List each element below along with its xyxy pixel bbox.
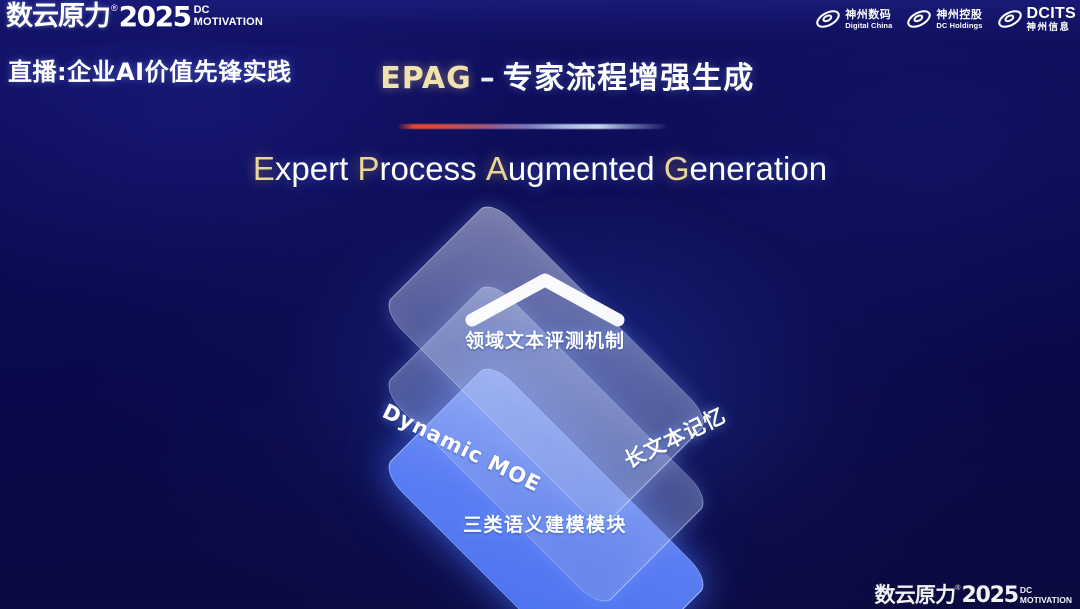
partner-label: DCITS 神州信息 xyxy=(1027,6,1077,33)
title-dash: – xyxy=(480,61,495,96)
layered-architecture-diagram: 领域文本评测机制 Dynamic MOE 长文本记忆 三类语义建模模块 xyxy=(300,222,790,562)
partner-label: 神州控股 DC Holdings xyxy=(936,9,982,30)
partner-name-en: Digital China xyxy=(845,22,892,30)
watermark-year: 2025 xyxy=(961,584,1017,607)
brand-registered-mark: ® xyxy=(111,2,118,14)
partner-logo-group: 神州数码 Digital China 神州控股 DC Holdings DCIT… xyxy=(815,5,1076,33)
partner-label: 神州数码 Digital China xyxy=(845,9,892,30)
corner-watermark-logo: 数云原力 ® 2025 DC MOTIVATION xyxy=(874,584,1072,607)
watermark-dc-line1: DC xyxy=(1020,586,1072,595)
watermark-name-cn: 数云原力 xyxy=(874,584,955,607)
swoosh-icon xyxy=(815,7,841,31)
title-chinese: 专家流程增强生成 xyxy=(503,61,755,96)
partner-name-cn: 神州信息 xyxy=(1027,23,1077,33)
subtitle-cap-g: G xyxy=(664,150,690,187)
gradient-divider xyxy=(397,124,669,129)
watermark-dc-motivation: DC MOTIVATION xyxy=(1020,584,1072,604)
partner-name-en: DCITS xyxy=(1027,6,1077,22)
subtitle-word-generation: eneration xyxy=(689,150,827,187)
title-acronym: EPAG xyxy=(380,61,472,96)
subtitle-word-expert: xpert xyxy=(275,150,348,187)
partner-logo-dcits: DCITS 神州信息 xyxy=(997,5,1077,33)
subtitle-cap-p: P xyxy=(357,150,379,187)
watermark-registered-mark: ® xyxy=(955,584,960,593)
page-title: EPAG–专家流程增强生成 xyxy=(0,53,1080,97)
subtitle-word-augmented: ugmented xyxy=(508,150,655,187)
partner-name-en: DC Holdings xyxy=(936,22,982,30)
brand-dc-line2: MOTIVATION xyxy=(194,17,263,28)
partner-logo-dc-holdings: 神州控股 DC Holdings xyxy=(906,5,982,33)
brand-dc-line1: DC xyxy=(194,5,263,16)
slide-canvas: 数云原力 ® 2025 DC MOTIVATION 直播:企业AI价值先锋实践 … xyxy=(0,0,1080,609)
swoosh-icon xyxy=(997,7,1023,31)
subtitle-expansion: Expert Process Augmented Generation xyxy=(0,150,1080,188)
subtitle-cap-a: A xyxy=(486,150,508,187)
brand-logo: 数云原力 ® 2025 DC MOTIVATION xyxy=(6,2,263,34)
subtitle-cap-e: E xyxy=(253,150,275,187)
partner-name-cn: 神州控股 xyxy=(936,9,982,20)
subtitle-word-process: rocess xyxy=(379,150,476,187)
brand-dc-motivation: DC MOTIVATION xyxy=(194,2,263,28)
brand-year: 2025 xyxy=(119,2,191,32)
brand-name-cn: 数云原力 xyxy=(6,2,110,32)
partner-logo-digital-china: 神州数码 Digital China xyxy=(815,5,892,33)
watermark-dc-line2: MOTIVATION xyxy=(1020,596,1072,605)
swoosh-icon xyxy=(906,7,932,31)
partner-name-cn: 神州数码 xyxy=(845,9,892,20)
